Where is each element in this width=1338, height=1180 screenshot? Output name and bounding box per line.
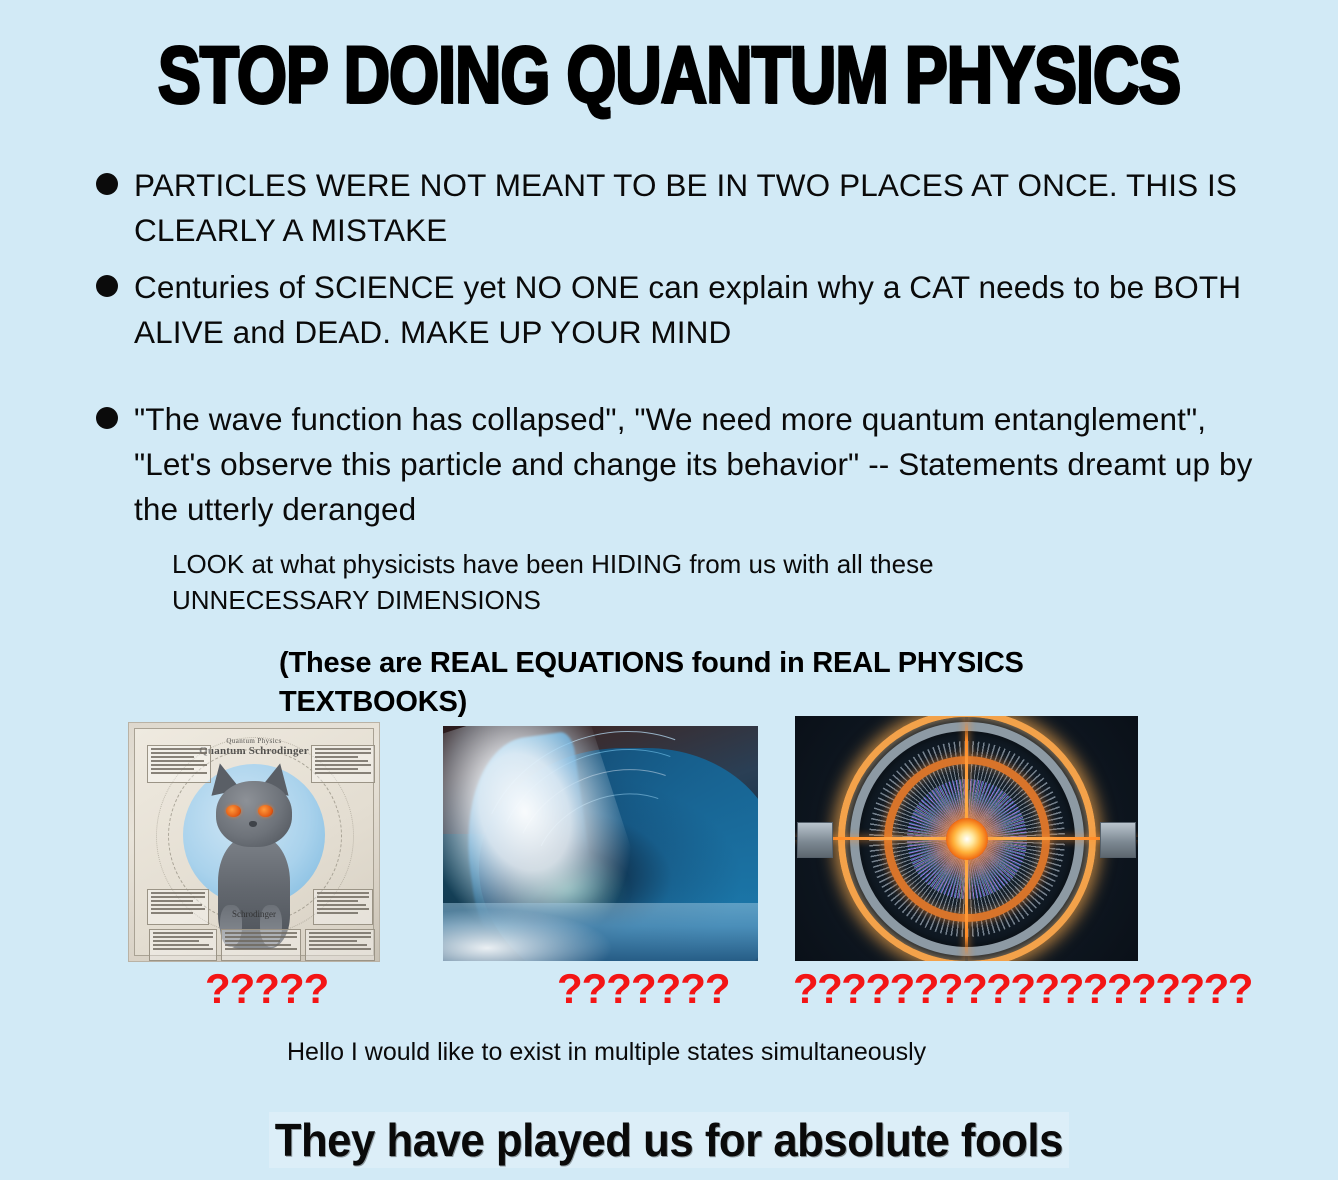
bullet-dot-icon xyxy=(96,275,118,297)
bullet-text-1: PARTICLES WERE NOT MEANT TO BE IN TWO PL… xyxy=(134,163,1294,253)
final-line: They have played us for absolute fools xyxy=(0,1112,1338,1168)
page-title: STOP DOING QUANTUM PHYSICS xyxy=(134,36,1204,114)
wave-base-foam xyxy=(443,909,613,961)
image-blue-barrel-wave xyxy=(443,726,758,961)
cat-eye-left xyxy=(226,805,241,817)
grey-cat-figure xyxy=(202,765,306,947)
real-equations-caption: (These are REAL EQUATIONS found in REAL … xyxy=(279,644,1109,722)
question-marks-row-1: ????? xyxy=(205,968,328,1010)
bullet-text-3: "The wave function has collapsed", "We n… xyxy=(134,397,1274,532)
bullet-text-2: Centuries of SCIENCE yet NO ONE can expl… xyxy=(134,265,1296,355)
list-item: Centuries of SCIENCE yet NO ONE can expl… xyxy=(96,265,1296,355)
question-marks-row-3: ??????????????????? xyxy=(793,968,1252,1010)
diagram-text-block xyxy=(313,889,373,925)
diagram-footer-label: Schrodinger xyxy=(135,909,373,919)
list-item: PARTICLES WERE NOT MEANT TO BE IN TWO PL… xyxy=(96,163,1296,253)
cat-eye-right xyxy=(258,805,273,817)
diagram-paper: Quantum Physics Quantum Schrodinger xyxy=(134,728,374,956)
collider-beam-port-right xyxy=(1100,822,1136,858)
collider-beam-port-left xyxy=(797,822,833,858)
sub-note-text: LOOK at what physicists have been HIDING… xyxy=(172,546,1102,618)
diagram-text-block xyxy=(311,745,375,783)
cat-nose xyxy=(249,821,257,827)
image-particle-collider-cross-section xyxy=(795,716,1138,961)
hello-caption: Hello I would like to exist in multiple … xyxy=(287,1035,987,1069)
diagram-text-block xyxy=(221,929,301,961)
final-line-text: They have played us for absolute fools xyxy=(269,1112,1069,1168)
diagram-text-block xyxy=(305,929,375,961)
image-quantum-schrodinger-cat-diagram: Quantum Physics Quantum Schrodinger xyxy=(128,722,380,962)
diagram-text-block xyxy=(147,745,211,783)
diagram-text-block xyxy=(147,889,209,925)
bullet-dot-icon xyxy=(96,407,118,429)
bullet-list: PARTICLES WERE NOT MEANT TO BE IN TWO PL… xyxy=(96,163,1296,618)
question-marks-row-2: ??????? xyxy=(557,968,730,1010)
collider-core-glow xyxy=(946,818,988,860)
meme-canvas: STOP DOING QUANTUM PHYSICS PARTICLES WER… xyxy=(0,0,1338,1180)
list-item: "The wave function has collapsed", "We n… xyxy=(96,397,1296,532)
diagram-text-block xyxy=(149,929,217,961)
bullet-dot-icon xyxy=(96,173,118,195)
